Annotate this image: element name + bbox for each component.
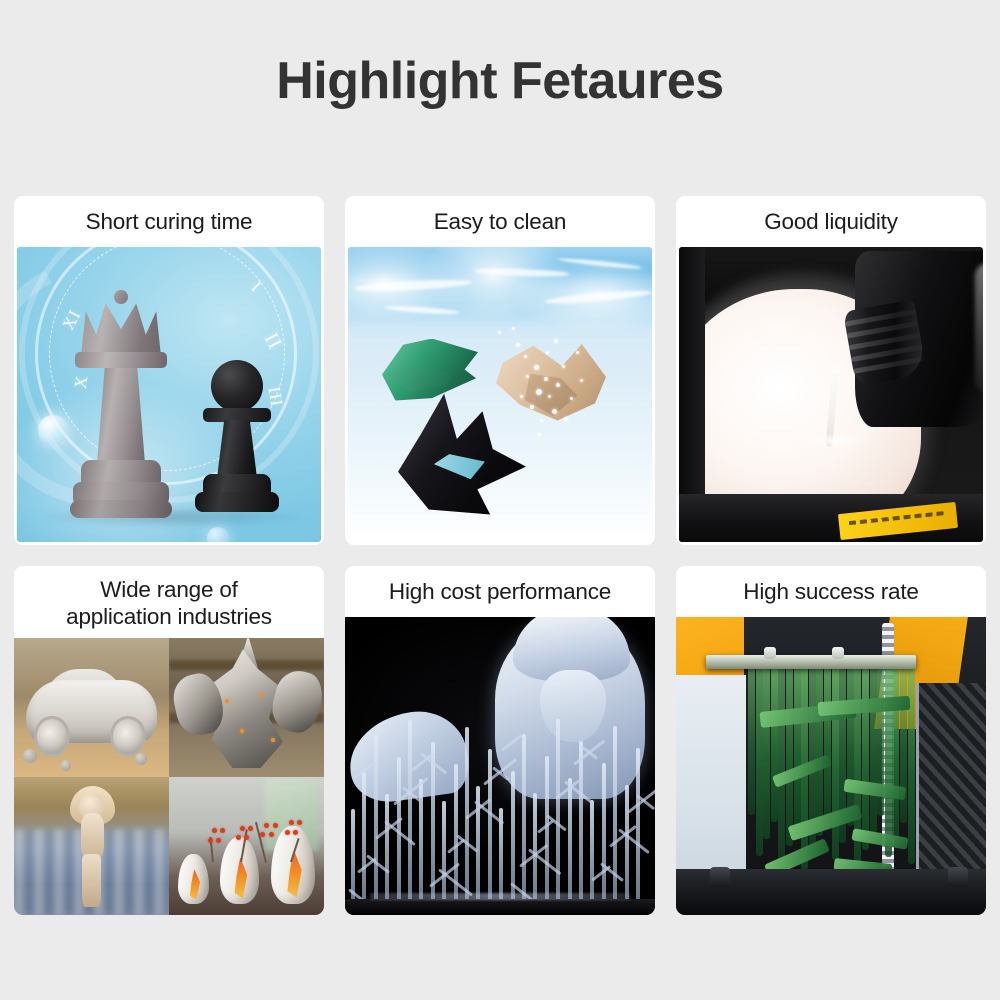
page-title: Highlight Fetaures <box>0 52 1000 112</box>
vent-panel <box>916 683 986 873</box>
green-low-poly-model <box>382 339 478 401</box>
feature-card-grid: Short curing time XI X I II III <box>14 196 986 915</box>
green-support-column <box>763 665 770 839</box>
card-title: Short curing time <box>14 196 324 247</box>
resin-splash <box>807 433 863 449</box>
green-support-column <box>832 665 839 860</box>
bubble <box>552 409 557 414</box>
bubble <box>512 327 515 330</box>
green-support-column <box>847 665 854 826</box>
support-column <box>579 741 583 901</box>
support-strut <box>501 734 523 752</box>
bubble <box>580 379 583 382</box>
applications-collage-photo <box>14 638 324 915</box>
bubble <box>564 417 568 421</box>
green-support-column <box>824 665 831 819</box>
green-support-column <box>778 665 785 863</box>
feature-card-easy-to-clean[interactable]: Easy to clean <box>345 196 655 545</box>
support-column <box>374 735 378 901</box>
berry <box>208 838 213 843</box>
bubble <box>544 377 548 381</box>
green-support-column <box>892 665 899 840</box>
green-support-column <box>862 665 869 850</box>
berry <box>273 823 278 828</box>
berry <box>236 835 241 840</box>
berry <box>216 838 221 843</box>
card-title: Easy to clean <box>345 196 655 247</box>
support-column <box>522 734 526 901</box>
green-support-column <box>756 665 763 856</box>
green-support-column <box>816 665 823 836</box>
resin-pouring-into-vat-photo <box>679 247 983 542</box>
chess-queen-model <box>73 288 169 520</box>
bubble <box>520 395 523 398</box>
green-support-column <box>748 665 755 815</box>
green-printed-parts <box>748 665 916 873</box>
bubble <box>540 419 543 422</box>
supported-resin-print-photo <box>345 617 655 915</box>
collage-tile-white-orange-flame-vases <box>169 777 324 915</box>
bubble <box>526 375 529 378</box>
build-plate <box>345 899 655 915</box>
build-plate <box>706 655 916 669</box>
bubble <box>534 365 539 370</box>
green-support-column <box>885 665 892 857</box>
berry <box>285 830 290 835</box>
light-orb <box>38 415 68 445</box>
beige-low-poly-model <box>496 343 606 421</box>
card-title: High cost performance <box>345 566 655 617</box>
support-column <box>351 809 355 901</box>
card-title: Wide range of application industries <box>14 566 324 638</box>
low-poly-shapes-underwater-photo <box>348 247 652 542</box>
green-support-column <box>794 665 801 829</box>
chess-pawn-model <box>195 360 279 520</box>
support-column <box>419 779 423 901</box>
support-column <box>602 763 606 901</box>
support-column <box>385 794 389 901</box>
support-strut <box>618 828 650 854</box>
collage-tile-anime-girl-figurine <box>14 777 169 915</box>
green-support-column <box>908 665 915 864</box>
bubble <box>562 365 565 368</box>
support-column <box>442 801 446 901</box>
bubble <box>530 405 534 409</box>
berry <box>244 835 249 840</box>
light-orb <box>207 527 229 542</box>
bubble <box>548 395 551 398</box>
collage-tile-white-mech-robot-figure <box>169 638 324 776</box>
berry <box>240 826 245 831</box>
card-title: Good liquidity <box>676 196 986 247</box>
green-support-column <box>771 665 778 822</box>
berry <box>220 828 225 833</box>
black-low-poly-model <box>398 389 526 515</box>
chess-pieces-clock-photo: XI X I II III <box>17 247 321 542</box>
support-column <box>568 778 572 901</box>
bubble <box>576 351 579 354</box>
feature-card-high-cost-performance[interactable]: High cost performance <box>345 566 655 915</box>
feature-highlight-page: Highlight Fetaures Short curing time XI … <box>0 0 1000 1000</box>
support-column <box>636 748 640 901</box>
berry <box>248 826 253 831</box>
support-column <box>362 772 366 901</box>
feature-card-wide-range-of-application-industries[interactable]: Wide range of application industries <box>14 566 324 915</box>
bubble <box>546 351 549 354</box>
bubble <box>524 355 527 358</box>
support-column <box>408 720 412 901</box>
bubble <box>536 389 542 395</box>
support-structure-lattice <box>345 711 655 901</box>
berry <box>212 828 217 833</box>
feature-card-short-curing-time[interactable]: Short curing time XI X I II III <box>14 196 324 545</box>
bubble <box>538 433 541 436</box>
support-column <box>625 785 629 901</box>
collage-tile-white-sports-car-model <box>14 638 169 776</box>
support-column <box>590 800 594 901</box>
resin-printer-green-parts-photo <box>676 617 986 915</box>
bubble <box>554 339 558 343</box>
bubble <box>498 331 501 334</box>
support-column <box>533 793 537 901</box>
green-support-column <box>786 665 793 846</box>
green-support-column <box>870 665 877 833</box>
card-title: High success rate <box>676 566 986 617</box>
feature-card-good-liquidity[interactable]: Good liquidity <box>676 196 986 545</box>
bubble <box>516 343 520 347</box>
bubble <box>570 397 573 400</box>
bubble <box>556 383 560 387</box>
feature-card-high-success-rate[interactable]: High success rate <box>676 566 986 915</box>
support-column <box>488 749 492 901</box>
